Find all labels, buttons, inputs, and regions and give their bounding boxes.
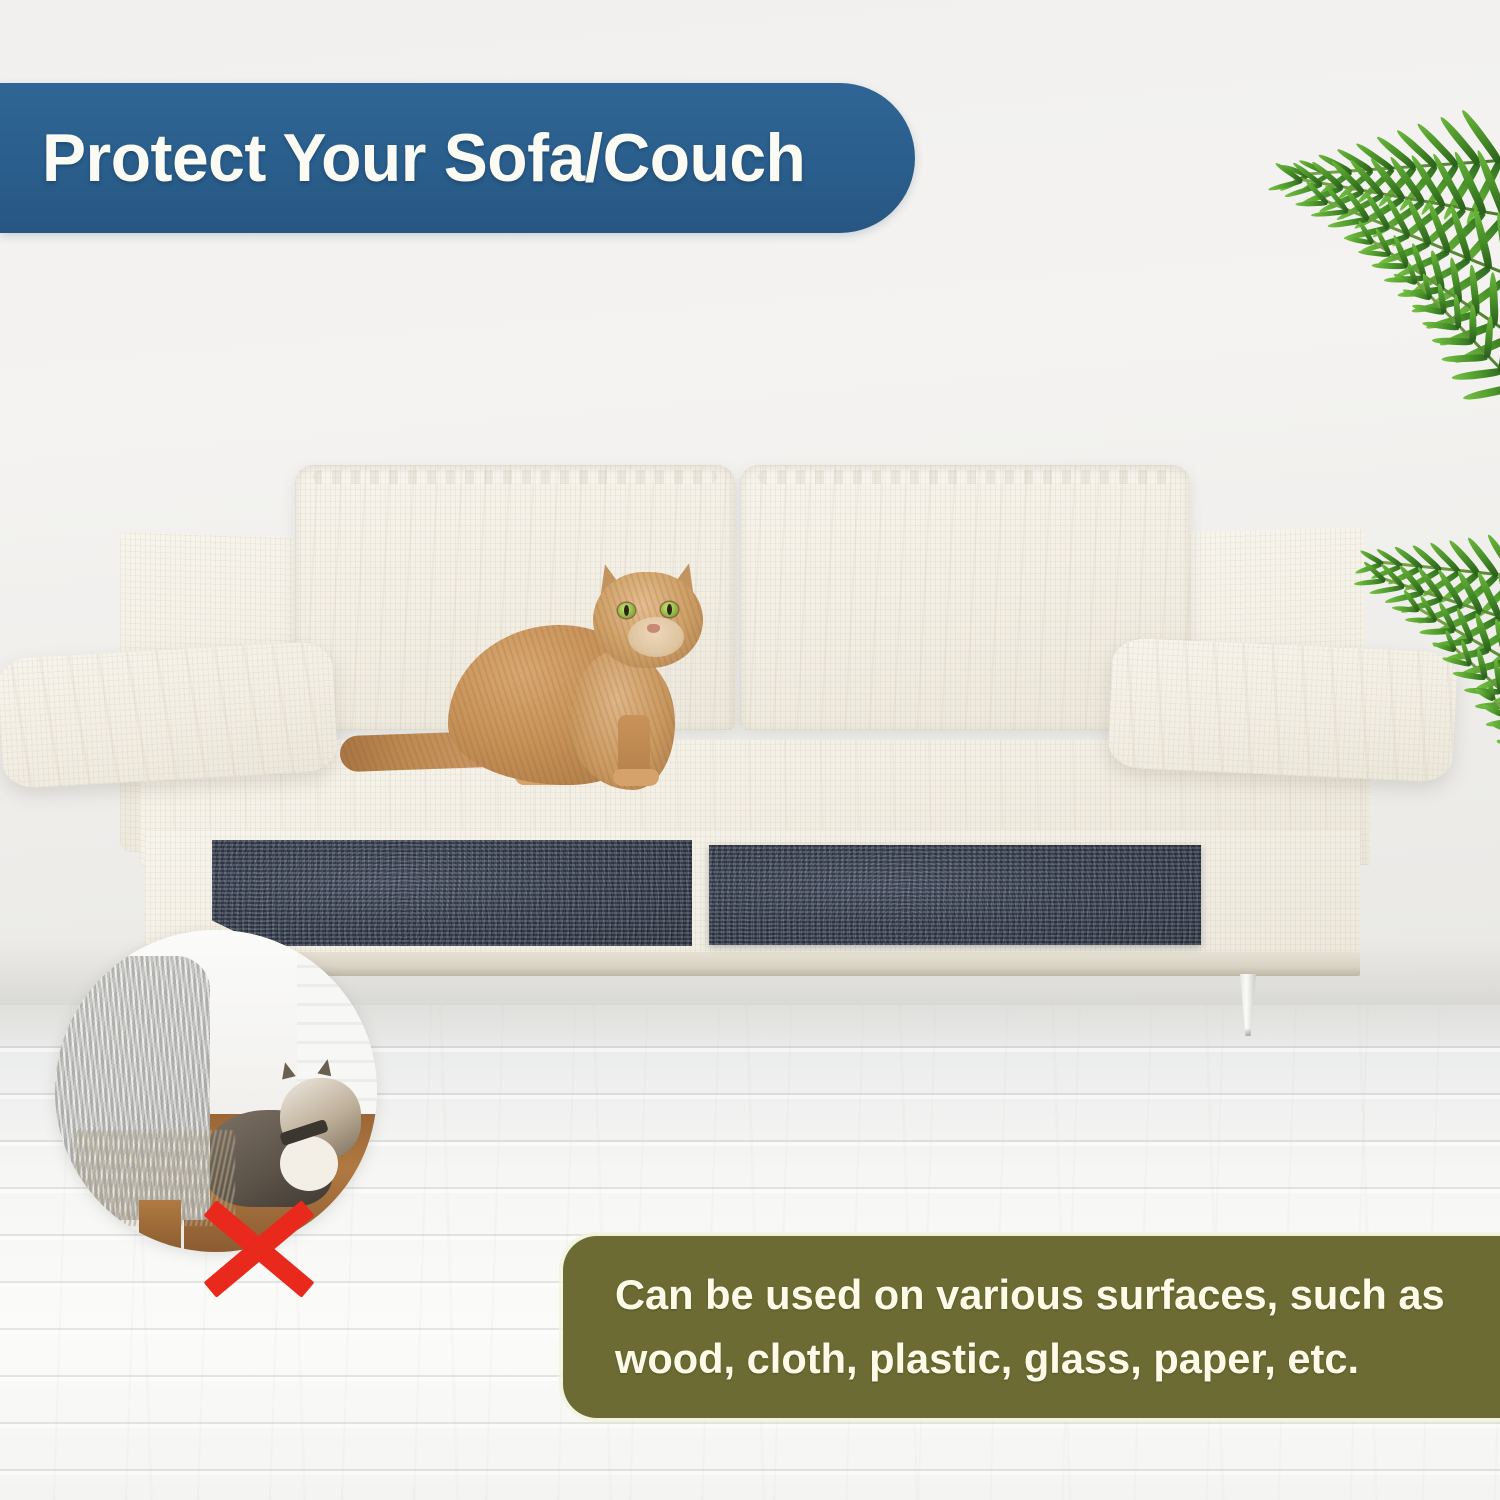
palm-leaflet: [1371, 263, 1408, 270]
palm-leaflet: [1488, 720, 1500, 735]
pillow-folds: [0, 641, 338, 789]
cat-front-paw: [613, 769, 659, 786]
title-banner: Protect Your Sofa/Couch: [0, 83, 915, 233]
palm-leaflet: [1452, 368, 1500, 382]
cat-nose: [647, 624, 660, 633]
red-x-icon: [198, 1203, 320, 1295]
feature-banner: Can be used on various surfaces, such as…: [563, 1236, 1500, 1418]
palm-leaflet: [1469, 305, 1476, 343]
cushion-top-rim: [313, 470, 718, 484]
palm-frond: [1489, 695, 1500, 798]
palm-leaflet: [1432, 337, 1474, 346]
inset-sofa-wood-leg: [139, 1200, 181, 1252]
page-title: Protect Your Sofa/Couch: [42, 124, 805, 192]
palm-leaflet: [1442, 354, 1488, 363]
arm-pillow-left: [0, 641, 338, 789]
cushion-top-rim: [758, 470, 1172, 484]
palm-plant-mid-right: [1330, 540, 1500, 840]
scratch-mat-right: [709, 845, 1201, 945]
palm-leaflet: [1496, 738, 1500, 752]
cat-pupil-left: [624, 605, 629, 616]
golden-cat: [330, 555, 730, 800]
mat-texture: [709, 845, 1201, 945]
palm-leaflet: [1462, 383, 1500, 402]
inset-cat-bib: [280, 1136, 338, 1191]
cat-pupil-right: [667, 604, 672, 615]
palm-plant-top-right: [1160, 100, 1500, 430]
cat-muzzle: [628, 617, 684, 657]
feature-text-line1: Can be used on various surfaces, such as: [615, 1263, 1468, 1327]
feature-text-line2: wood, cloth, plastic, glass, paper, etc.: [615, 1327, 1468, 1391]
